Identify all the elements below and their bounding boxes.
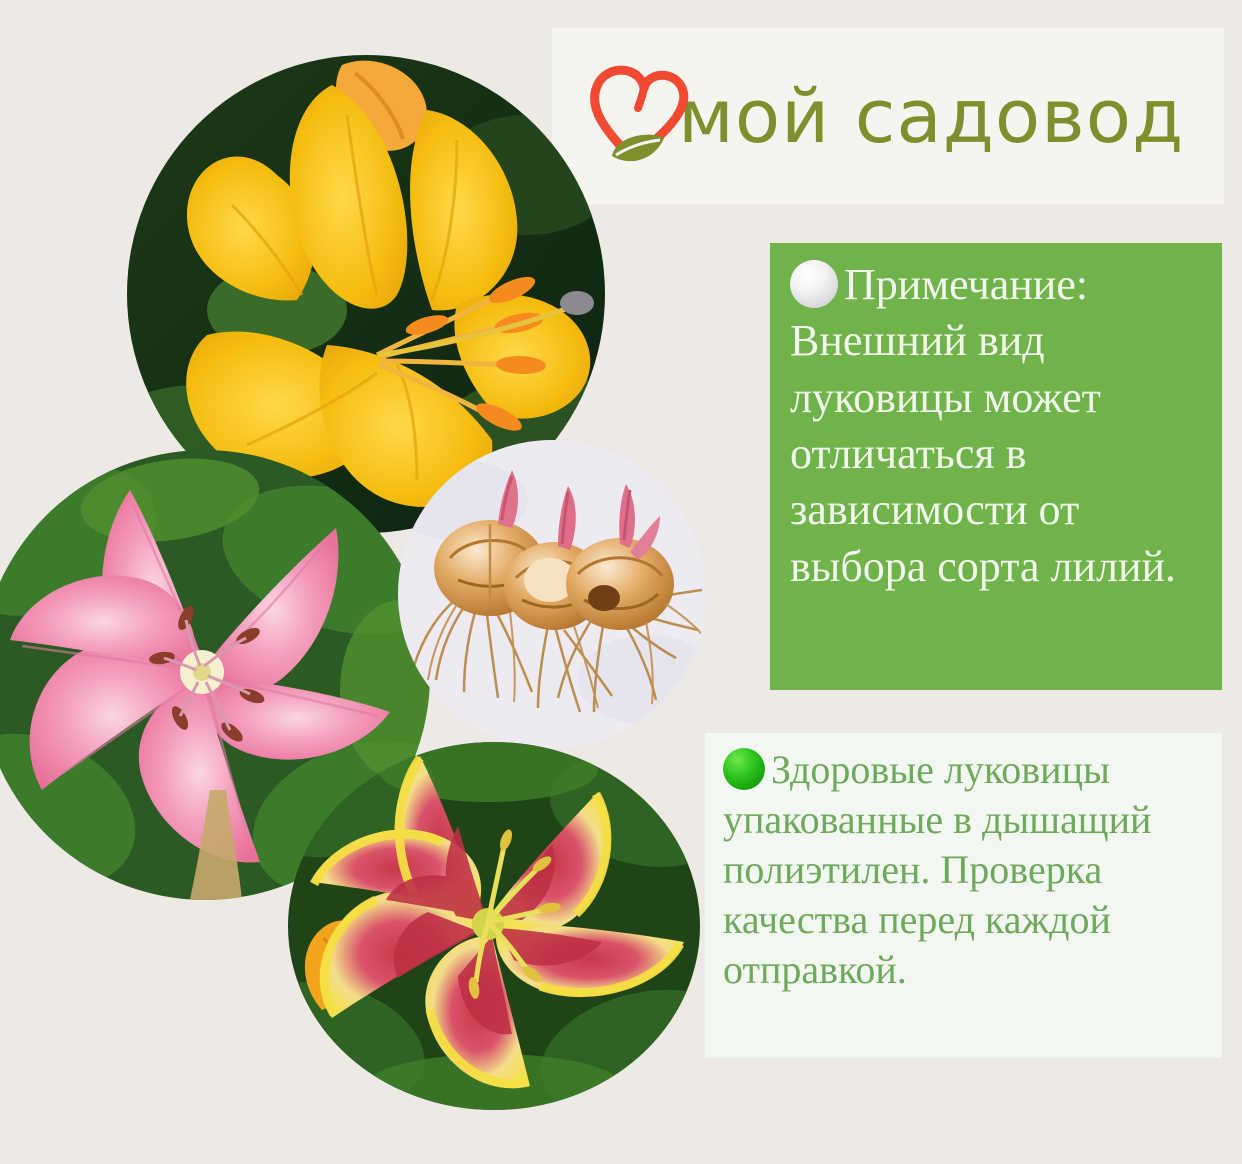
- brand-logo-panel: мой садовод: [552, 28, 1224, 204]
- silver-circle-bullet-icon: [790, 260, 838, 308]
- note-primary-text: Примечание: Внешний вид луковицы может о…: [790, 260, 1176, 591]
- promo-image-canvas: мой садовод: [0, 0, 1242, 1164]
- brand-name-text: мой садовод: [678, 80, 1184, 154]
- brand-logo: мой садовод: [582, 58, 1184, 176]
- note-primary: Примечание: Внешний вид луковицы может о…: [770, 243, 1222, 690]
- green-circle-bullet-icon: [723, 748, 765, 790]
- note-secondary-text: Здоровые луковицы упакованные в дышащий …: [723, 747, 1151, 992]
- heart-leaf-logo-mark: [582, 58, 694, 176]
- photo-red-yellow-lily: [288, 742, 700, 1110]
- note-secondary: Здоровые луковицы упакованные в дышащий …: [705, 733, 1222, 1058]
- photo-lily-bulbs: [398, 440, 706, 748]
